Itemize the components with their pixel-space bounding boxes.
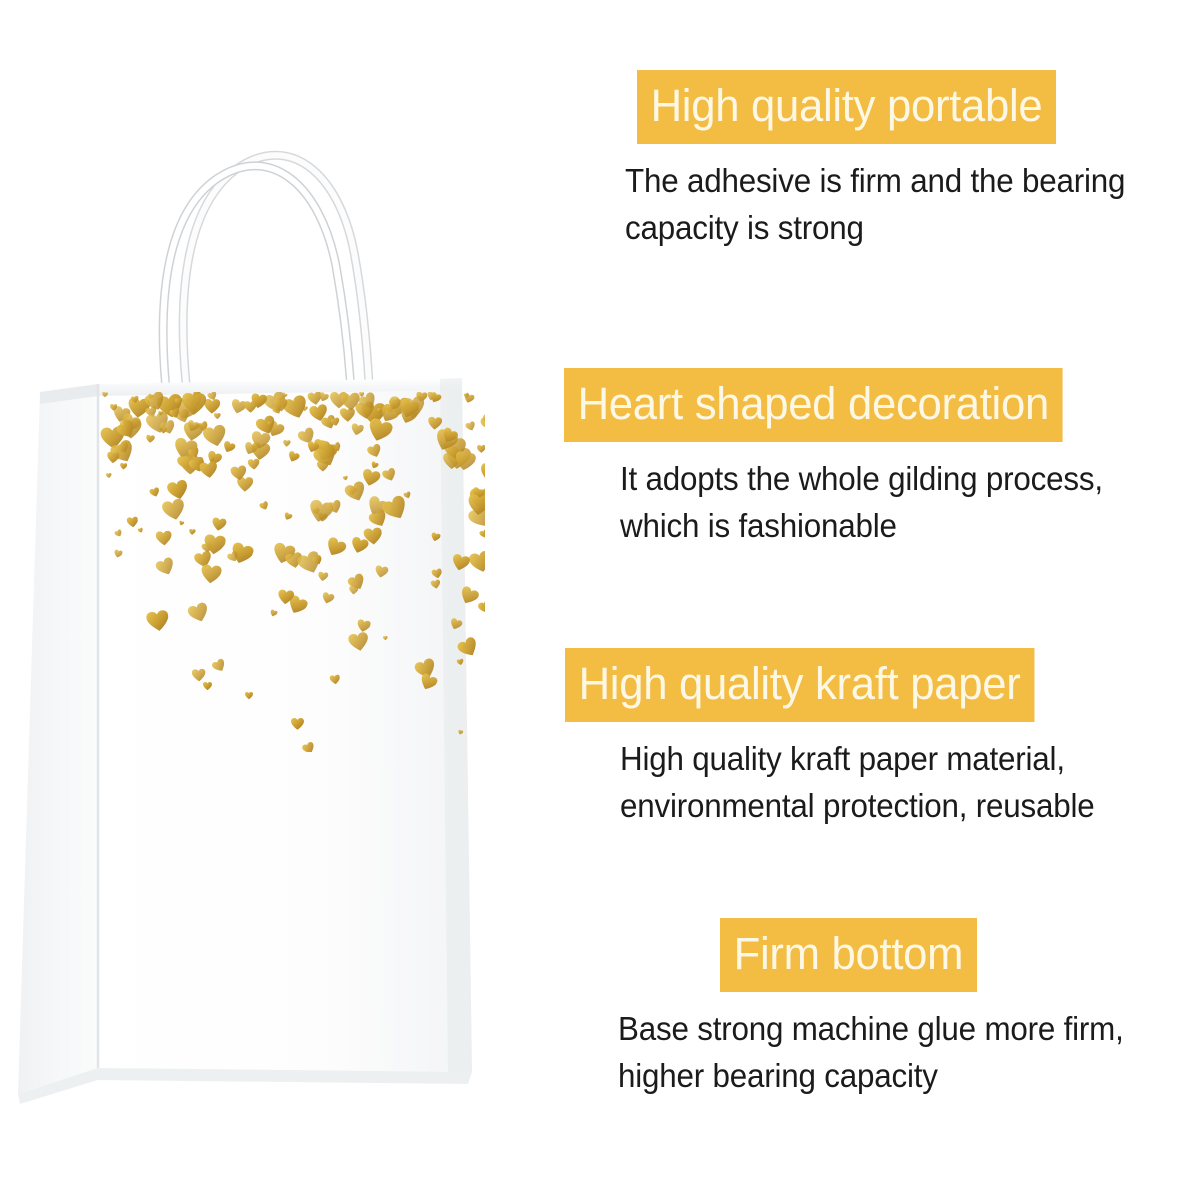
feature-body-line: The adhesive is firm and the bearing [625, 158, 1171, 205]
feature-block-firm-bottom: Firm bottom Base strong machine glue mor… [540, 918, 1200, 1100]
feature-heading-firm-bottom: Firm bottom [720, 918, 977, 992]
feature-block-kraft-paper: High quality kraft paper High quality kr… [540, 648, 1200, 830]
feature-list: High quality portable The adhesive is fi… [540, 0, 1200, 1200]
feature-body-kraft-paper: High quality kraft paper material, envir… [620, 736, 1171, 830]
feature-body-line: environmental protection, reusable [620, 783, 1171, 830]
feature-heading-portable: High quality portable [637, 70, 1056, 144]
product-image [0, 0, 540, 1200]
feature-body-line: Base strong machine glue more firm, [618, 1006, 1171, 1053]
feature-body-portable: The adhesive is firm and the bearing cap… [625, 158, 1171, 252]
feature-body-line: higher bearing capacity [618, 1053, 1171, 1100]
feature-body-line: High quality kraft paper material, [620, 736, 1171, 783]
feature-block-portable: High quality portable The adhesive is fi… [540, 70, 1200, 252]
feature-body-line: which is fashionable [620, 503, 1171, 550]
feature-heading-heart-decoration: Heart shaped decoration [564, 368, 1063, 442]
feature-body-line: It adopts the whole gilding process, [620, 456, 1171, 503]
gift-bag-body [10, 378, 490, 1103]
feature-body-line: capacity is strong [625, 205, 1171, 252]
feature-block-heart-decoration: Heart shaped decoration It adopts the wh… [540, 368, 1200, 550]
feature-body-firm-bottom: Base strong machine glue more firm, high… [618, 1006, 1171, 1100]
feature-heading-kraft-paper: High quality kraft paper [565, 648, 1034, 722]
bag-handles [130, 110, 430, 410]
feature-body-heart-decoration: It adopts the whole gilding process, whi… [620, 456, 1171, 550]
